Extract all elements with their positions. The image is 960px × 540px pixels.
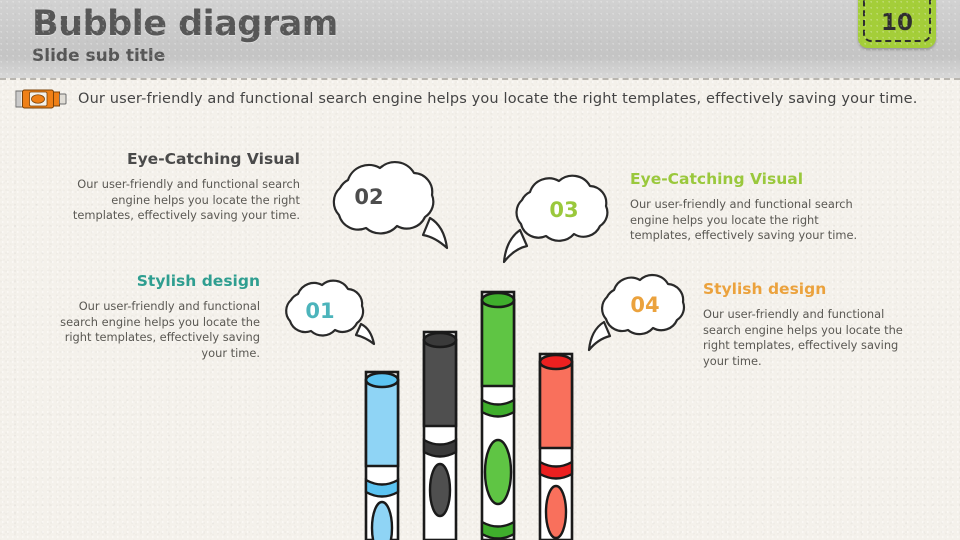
- text-block-eye-catching-right: Eye-Catching Visual Our user-friendly an…: [630, 170, 870, 244]
- bubble-label: 01: [264, 299, 376, 323]
- marker-pens-group: [352, 284, 612, 540]
- slide-canvas: Bubble diagram Slide sub title 10 Our us…: [0, 0, 960, 540]
- bubble-label: 02: [298, 185, 440, 209]
- text-block-stylish-left: Stylish design Our user-friendly and fun…: [60, 272, 260, 361]
- badge-number-label: 10: [881, 10, 913, 36]
- paint-tube-icon: [14, 87, 70, 111]
- text-block-eye-catching-left: Eye-Catching Visual Our user-friendly an…: [60, 150, 300, 224]
- page-number-badge: 10: [858, 0, 936, 48]
- block-body: Our user-friendly and functional search …: [60, 177, 300, 224]
- slide-header: Bubble diagram Slide sub title 10: [0, 0, 960, 78]
- marker-green: [482, 292, 514, 540]
- text-block-stylish-right: Stylish design Our user-friendly and fun…: [703, 280, 903, 369]
- block-body: Our user-friendly and functional search …: [630, 197, 870, 244]
- block-heading: Eye-Catching Visual: [630, 170, 870, 189]
- badge-dashed-frame: 10: [863, 0, 931, 42]
- block-heading: Stylish design: [703, 280, 903, 299]
- bubble-03[interactable]: 03: [494, 168, 622, 268]
- marker-blue: [366, 372, 398, 540]
- header-divider: [0, 78, 960, 80]
- intro-row: Our user-friendly and functional search …: [14, 86, 944, 112]
- block-heading: Eye-Catching Visual: [60, 150, 300, 169]
- intro-text: Our user-friendly and functional search …: [78, 91, 917, 107]
- bubble-02[interactable]: 02: [312, 152, 454, 260]
- marker-red: [540, 354, 572, 540]
- block-body: Our user-friendly and functional search …: [703, 307, 903, 369]
- bubble-04[interactable]: 04: [578, 268, 696, 356]
- bubble-label: 03: [500, 198, 628, 222]
- marker-gray: [424, 332, 456, 540]
- bubble-01[interactable]: 01: [268, 272, 380, 356]
- page-title: Bubble diagram: [32, 2, 338, 46]
- block-heading: Stylish design: [60, 272, 260, 291]
- bubble-label: 04: [586, 293, 704, 317]
- page-subtitle: Slide sub title: [32, 45, 165, 67]
- block-body: Our user-friendly and functional search …: [60, 299, 260, 361]
